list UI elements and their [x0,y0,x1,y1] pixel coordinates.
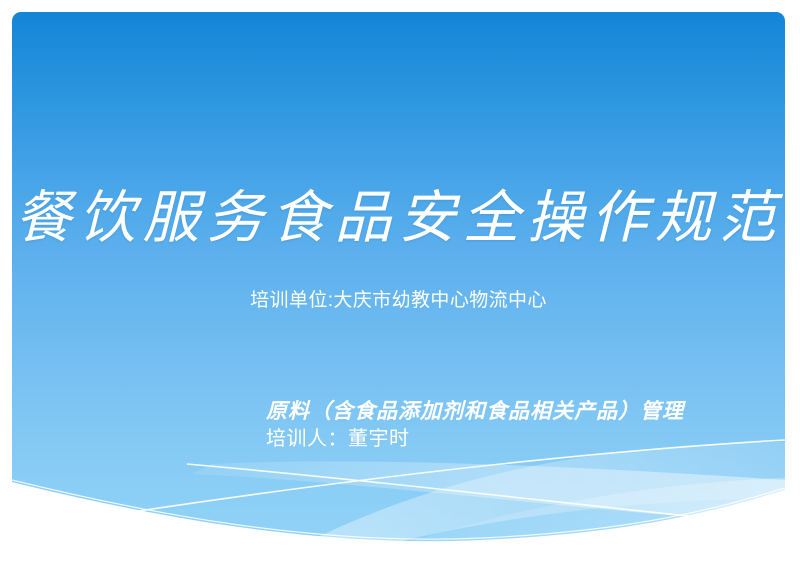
training-unit-subtitle: 培训单位:大庆市幼教中心物流中心 [12,289,785,314]
topic-line: 原料（含食品添加剂和食品相关产品）管理 [266,398,766,424]
slide-text-content: 餐饮服务食品安全操作规范 培训单位:大庆市幼教中心物流中心 原料（含食品添加剂和… [12,12,785,566]
trainer-line: 培训人：董宇时 [266,427,766,452]
page-title: 餐饮服务食品安全操作规范 [12,188,785,250]
presentation-slide: 餐饮服务食品安全操作规范 培训单位:大庆市幼教中心物流中心 原料（含食品添加剂和… [12,12,785,566]
slide-body-block: 原料（含食品添加剂和食品相关产品）管理 培训人：董宇时 [266,398,766,452]
